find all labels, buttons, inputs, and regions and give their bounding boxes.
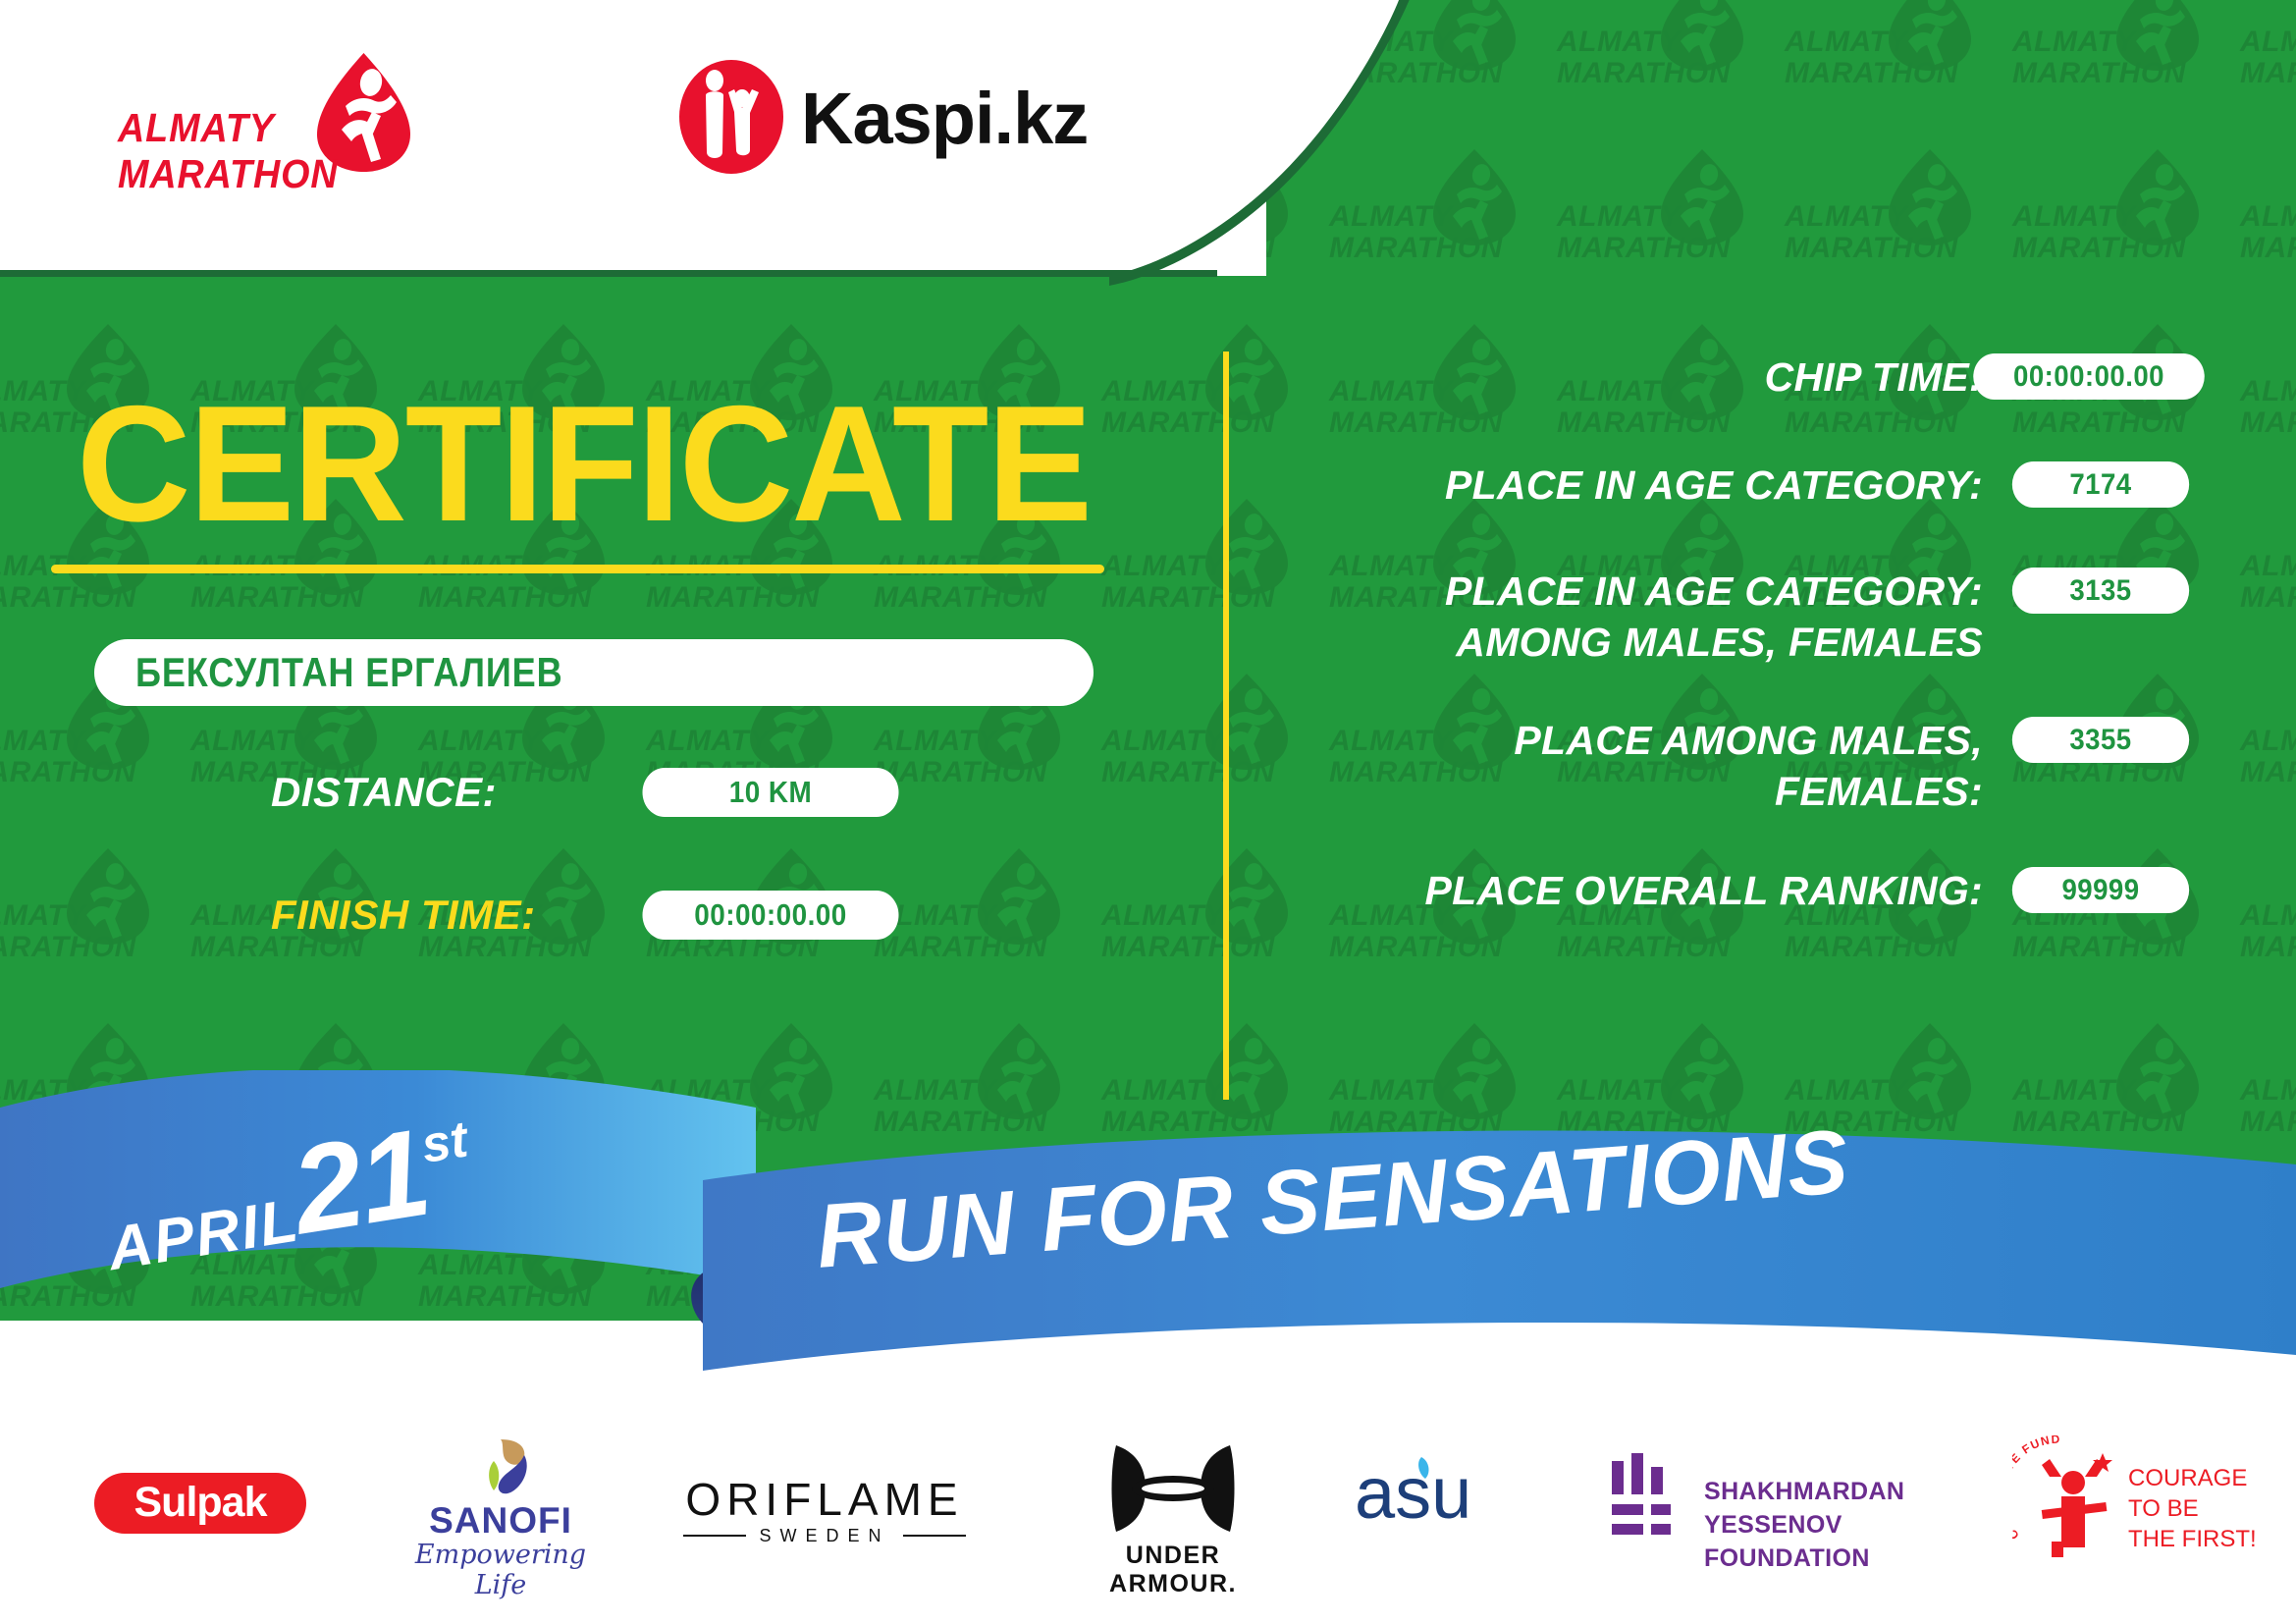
under-armour-logo-text: UNDER ARMOUR. <box>1065 1542 1281 1598</box>
ribbon-day-suffix: st <box>418 1110 472 1174</box>
under-armour-icon <box>1108 1443 1238 1534</box>
almaty-marathon-logo: ALMATY MARATHON <box>118 51 442 208</box>
column-divider <box>1223 352 1229 1100</box>
stat-value: 3135 <box>2012 568 2189 614</box>
stat-label-line-1: PLACE IN AGE CATEGORY: <box>1445 568 1983 614</box>
almaty-marathon-logo-text: ALMATY MARATHON <box>118 105 339 197</box>
sanofi-leaf-icon <box>461 1437 540 1496</box>
finish-time-label: FINISH TIME: <box>271 889 536 942</box>
distance-label: DISTANCE: <box>271 766 497 819</box>
participant-name-value: БЕКСУЛТАН ЕРГАЛИЕВ <box>135 639 563 706</box>
sponsors-bar: Sulpak SANOFI Empowering Life ORIFLAME S… <box>0 1406 2296 1624</box>
header-curve-shape <box>1109 0 1561 289</box>
sanofi-logo-text: SANOFI <box>393 1500 609 1542</box>
sponsor-oriflame: ORIFLAME SWEDEN <box>677 1406 972 1624</box>
logo-line-2: MARATHON <box>118 151 339 196</box>
yessenov-logo-text: SHAKHMARDAN YESSENOV FOUNDATION <box>1704 1475 1963 1575</box>
logo-line-1: ALMATY <box>118 105 275 150</box>
courage-line-3: THE FIRST! <box>2128 1526 2257 1552</box>
oriflame-sub-text: SWEDEN <box>677 1526 972 1546</box>
stats-column: CHIP TIME: 00:00:00.00 PLACE IN AGE CATE… <box>1276 352 2258 1127</box>
courage-figure-icon: CORPORATE FUND <box>2012 1435 2130 1563</box>
stat-label-line-2: FEMALES: <box>1775 769 1983 814</box>
certificate-title: CERTIFICATE <box>77 381 1091 546</box>
finish-time-row: FINISH TIME: 00:00:00.00 <box>0 889 1139 947</box>
title-underline-rule <box>51 565 1104 573</box>
courage-line-1: COURAGE <box>2128 1465 2247 1491</box>
stat-label: PLACE OVERALL RANKING: <box>1276 865 1983 916</box>
sanofi-tagline: Empowering Life <box>393 1540 609 1600</box>
sponsor-yessenov-foundation: SHAKHMARDAN YESSENOV FOUNDATION <box>1610 1406 1963 1624</box>
distance-value: 10 KM <box>643 768 899 817</box>
stat-value: 99999 <box>2012 867 2189 913</box>
stat-label-line-2: AMONG MALES, FEMALES <box>1456 620 1983 665</box>
stat-value: 00:00:00.00 <box>1973 353 2205 400</box>
kaspi-logo: Kaspi.kz <box>677 59 1090 182</box>
kaspi-logo-text: Kaspi.kz <box>801 77 1088 160</box>
distance-row: DISTANCE: 10 KM <box>0 766 1139 825</box>
sponsor-sulpak: Sulpak <box>94 1406 306 1624</box>
sponsor-courage-to-be-the-first: CORPORATE FUND COURAGE TO BE THE FIRST! <box>2012 1406 2258 1624</box>
svg-text:CORPORATE FUND: CORPORATE FUND <box>2012 1435 2061 1543</box>
stat-value: 7174 <box>2012 461 2189 508</box>
stat-label: PLACE IN AGE CATEGORY: <box>1276 460 1983 511</box>
stat-label: CHIP TIME: <box>1276 352 1983 403</box>
stat-value: 3355 <box>2012 717 2189 763</box>
certificate-root: ALMATY MARATHON Kaspi.kz CERTIFICATE БЕК… <box>0 0 2296 1624</box>
oriflame-logo-text: ORIFLAME <box>677 1473 972 1526</box>
sponsor-asu: asu <box>1355 1406 1541 1624</box>
stat-label-line-1: PLACE AMONG MALES, <box>1514 718 1983 763</box>
kaspi-people-mark-icon <box>677 59 785 175</box>
finish-time-value: 00:00:00.00 <box>643 891 899 940</box>
sponsor-sanofi: SANOFI Empowering Life <box>393 1406 609 1624</box>
courage-logo-text: COURAGE TO BE THE FIRST! <box>2128 1463 2266 1554</box>
participant-name-field: БЕКСУЛТАН ЕРГАЛИЕВ <box>94 639 1094 706</box>
stat-label: PLACE IN AGE CATEGORY: AMONG MALES, FEMA… <box>1276 566 1983 668</box>
ribbon-day: 21 <box>284 1103 438 1261</box>
courage-line-2: TO BE <box>2128 1495 2199 1522</box>
stat-label: PLACE AMONG MALES, FEMALES: <box>1276 715 1983 817</box>
sulpak-logo-text: Sulpak <box>94 1473 306 1534</box>
yessenov-bars-icon <box>1610 1453 1690 1542</box>
asu-logo-icon: asu <box>1355 1453 1541 1532</box>
sponsor-under-armour: UNDER ARMOUR. <box>1065 1406 1281 1624</box>
svg-text:asu: asu <box>1355 1453 1471 1532</box>
header-divider-line <box>0 270 1217 277</box>
yessenov-line-1: SHAKHMARDAN YESSENOV <box>1704 1478 1904 1539</box>
yessenov-line-2: FOUNDATION <box>1704 1544 1870 1572</box>
